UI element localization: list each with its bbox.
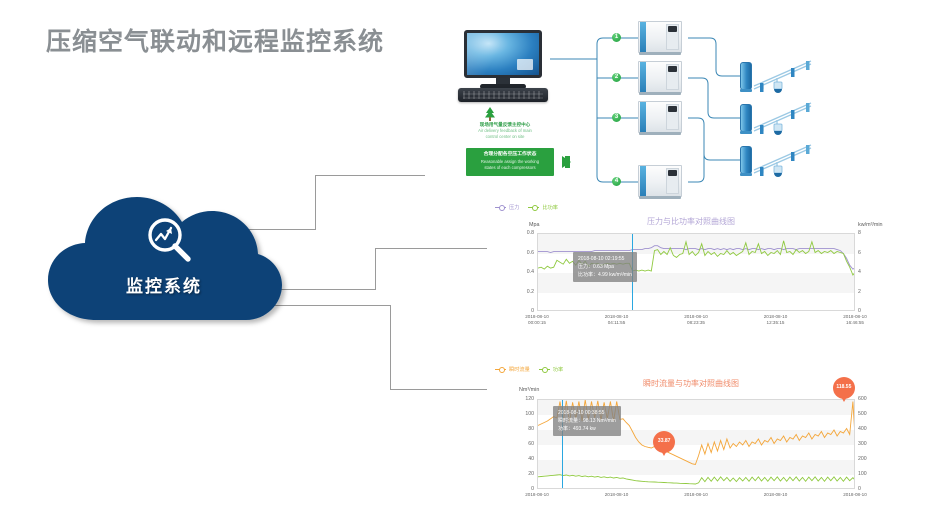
x-tick-date: 2018-08-10	[669, 492, 723, 498]
y-tick-label: 0.4	[516, 269, 534, 275]
x-tick-label: 2018-08-10	[749, 492, 803, 498]
compressor-screen	[668, 66, 677, 72]
y-tick-label: 80	[516, 426, 534, 432]
compressor-unit	[638, 21, 682, 55]
flow-chart-panel: 瞬时流量功率 瞬时流量与功率对照曲线图 Nm³/min 120100806040…	[487, 362, 895, 522]
x-tick-label: 2018-08-1016:46:55	[828, 314, 882, 326]
y2-tick-label: 6	[858, 250, 876, 256]
chart1-tooltip: 2018-08-10 02:19:55压力：0.63 Mpa比功率：4.99 k…	[573, 252, 637, 282]
air-tank-base	[740, 131, 752, 134]
compressor-foot	[639, 196, 681, 199]
chart1-y2-unit: kw/m³/min	[858, 222, 883, 228]
chart2-y-unit: Nm³/min	[519, 387, 539, 393]
legend-marker-icon	[495, 369, 506, 371]
compressor-stripe	[640, 62, 646, 92]
y2-tick-label: 4	[858, 269, 876, 275]
status-node[interactable]: 4	[612, 177, 621, 186]
air-tank-base	[740, 173, 752, 176]
y2-tick-label: 400	[858, 426, 876, 432]
monitoring-system-cloud[interactable]: 监控系统	[38, 188, 290, 332]
compressor-stripe	[640, 166, 646, 196]
system-diagram-panel: 现场用气量反馈主控中心 Air delivery feedback of mai…	[440, 18, 945, 203]
x-tick-date: 2018-08-10	[590, 492, 644, 498]
x-tick-label: 2018-08-10	[510, 492, 564, 498]
compressor-stripe	[640, 22, 646, 52]
legend-label: 瞬时流量	[509, 366, 530, 373]
chart-marker-pin[interactable]: 118.55	[833, 377, 855, 399]
y2-tick-label: 200	[858, 456, 876, 462]
air-tank-icon	[740, 62, 752, 90]
x-tick-time: 00:00:15	[510, 320, 564, 326]
chart1-y-unit: Mpa	[529, 222, 540, 228]
legend-label: 压力	[509, 204, 519, 211]
compressor-stripe	[640, 102, 646, 132]
chart1-title: 压力与比功率对照曲线图	[487, 216, 895, 227]
x-tick-time: 12:35:15	[749, 320, 803, 326]
chart2-tooltip: 2018-08-10 00:38:55瞬时流量：98.13 Nm³/min功率：…	[553, 406, 621, 436]
status-node[interactable]: 3	[612, 113, 621, 122]
compressor-unit	[638, 101, 682, 135]
y2-tick-label: 600	[858, 396, 876, 402]
legend-item[interactable]: 瞬时流量	[495, 366, 530, 373]
y-tick-label: 0.6	[516, 250, 534, 256]
compressor-foot	[639, 92, 681, 95]
x-tick-date: 2018-08-10	[828, 492, 882, 498]
y-tick-label: 100	[516, 411, 534, 417]
x-tick-label: 2018-08-10	[828, 492, 882, 498]
x-tick-label: 2018-08-1004:11:55	[590, 314, 644, 326]
air-tank-base	[740, 89, 752, 92]
x-tick-date: 2018-08-10	[749, 492, 803, 498]
compressor-screen	[668, 26, 677, 32]
y-tick-label: 0.8	[516, 230, 534, 236]
magnifier-chart-icon	[143, 214, 195, 266]
x-tick-label: 2018-08-10	[669, 492, 723, 498]
legend-marker-icon	[539, 369, 550, 371]
legend-label: 功率	[553, 366, 563, 373]
legend-label: 比功率	[542, 204, 558, 211]
tooltip-line-2: 功率：493.74 kw	[558, 425, 616, 433]
compressor-unit	[638, 61, 682, 95]
y-tick-label: 120	[516, 396, 534, 402]
compressor-unit	[638, 165, 682, 199]
tooltip-timestamp: 2018-08-10 00:38:55	[558, 409, 616, 417]
x-tick-label: 2018-08-1012:35:15	[749, 314, 803, 326]
x-tick-label: 2018-08-10	[590, 492, 644, 498]
x-tick-date: 2018-08-10	[510, 492, 564, 498]
air-tank-icon	[740, 104, 752, 132]
x-tick-time: 04:11:55	[590, 320, 644, 326]
tooltip-timestamp: 2018-08-10 02:19:55	[578, 255, 632, 263]
y-tick-label: 60	[516, 441, 534, 447]
air-tank-group	[740, 100, 820, 136]
y2-tick-label: 300	[858, 441, 876, 447]
x-tick-time: 16:46:55	[828, 320, 882, 326]
pressure-chart-panel: 压力比功率 压力与比功率对照曲线图 Mpa kw/m³/min 0.80.60.…	[487, 200, 895, 340]
air-tank-group	[740, 58, 820, 94]
chart-marker-pin[interactable]: 33.87	[653, 431, 675, 453]
compressor-screen	[668, 170, 677, 176]
piping-icon	[753, 100, 825, 136]
x-tick-label: 2018-08-1000:00:15	[510, 314, 564, 326]
tooltip-line-1: 压力：0.63 Mpa	[578, 263, 632, 271]
compressor-foot	[639, 132, 681, 135]
air-tank-icon	[740, 146, 752, 174]
y2-tick-label: 500	[858, 411, 876, 417]
network-lines	[440, 18, 945, 203]
page-title: 压缩空气联动和远程监控系统	[46, 22, 384, 58]
tooltip-line-1: 瞬时流量：98.13 Nm³/min	[558, 417, 616, 425]
cloud-label: 监控系统	[38, 272, 290, 297]
compressor-foot	[639, 52, 681, 55]
x-tick-time: 08:23:35	[669, 320, 723, 326]
piping-icon	[753, 142, 825, 178]
legend-item[interactable]: 压力	[495, 204, 519, 211]
chart2-legend[interactable]: 瞬时流量功率	[495, 366, 563, 373]
legend-item[interactable]: 比功率	[528, 204, 558, 211]
x-tick-label: 2018-08-1008:23:35	[669, 314, 723, 326]
y-tick-label: 20	[516, 471, 534, 477]
tooltip-line-2: 比功率：4.99 kw/m³/min	[578, 271, 632, 279]
status-node[interactable]: 2	[612, 73, 621, 82]
slide-canvas: 压缩空气联动和远程监控系统	[0, 0, 945, 529]
y2-tick-label: 2	[858, 289, 876, 295]
status-node[interactable]: 1	[612, 33, 621, 42]
y2-tick-label: 100	[858, 471, 876, 477]
air-tank-group	[740, 142, 820, 178]
y-tick-label: 40	[516, 456, 534, 462]
y2-tick-label: 8	[858, 230, 876, 236]
legend-marker-icon	[495, 207, 506, 209]
legend-marker-icon	[528, 207, 539, 209]
compressor-screen	[668, 106, 677, 112]
piping-icon	[753, 58, 825, 94]
y-tick-label: 0.2	[516, 289, 534, 295]
legend-item[interactable]: 功率	[539, 366, 563, 373]
chart1-legend[interactable]: 压力比功率	[495, 204, 558, 211]
series-line	[538, 475, 855, 484]
